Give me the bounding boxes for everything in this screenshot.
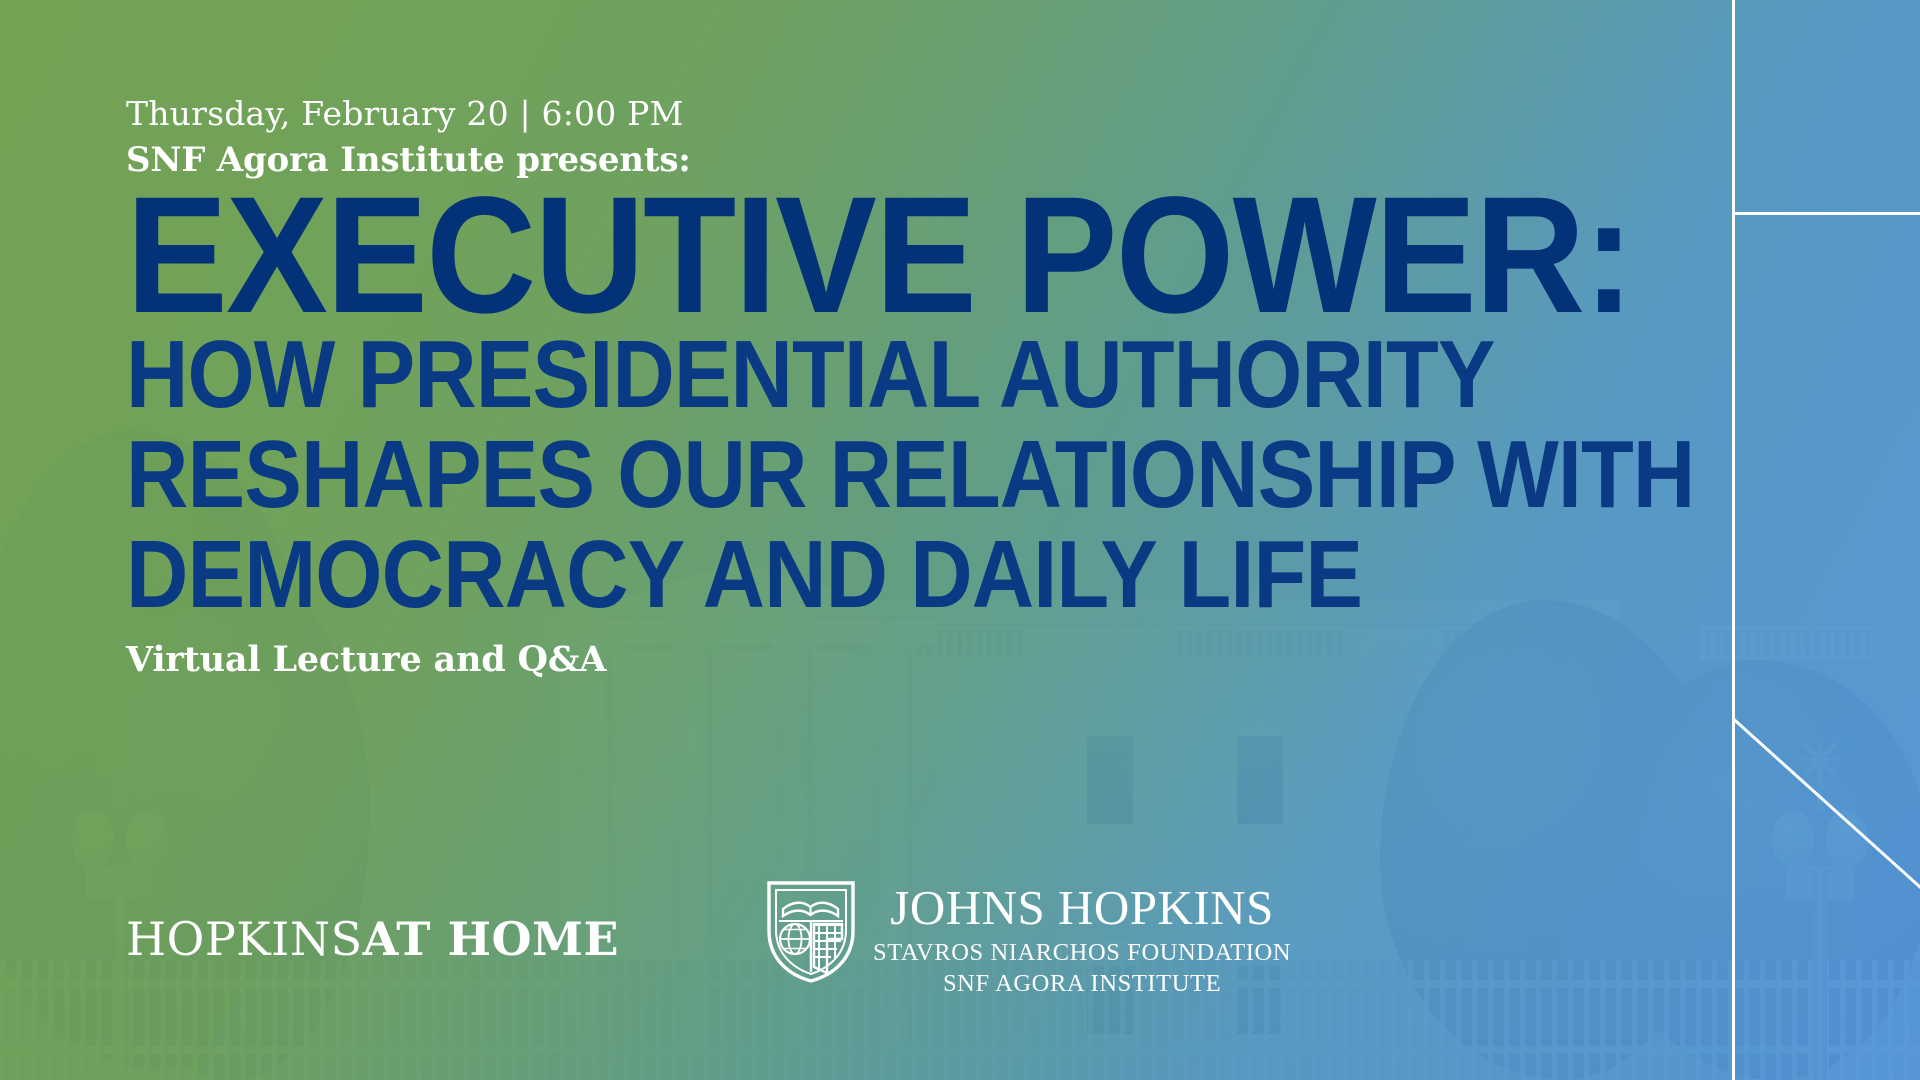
johns-hopkins-snf-agora-logo[interactable]: JOHNS HOPKINS STAVROS NIARCHOS FOUNDATIO… — [765, 879, 1291, 998]
event-title: EXECUTIVE POWER: — [126, 186, 1524, 325]
hopkins-at-home-bold: AT HOME — [363, 912, 619, 966]
jhu-shield-icon — [765, 879, 857, 985]
jhu-unit-line-1: STAVROS NIARCHOS FOUNDATION — [873, 939, 1291, 967]
horizontal-white-rule — [1735, 212, 1920, 215]
vertical-white-rule — [1732, 0, 1735, 1080]
event-subtitle-line-1: HOW PRESIDENTIAL AUTHORITY — [126, 325, 1494, 425]
jhu-wordmark: JOHNS HOPKINS STAVROS NIARCHOS FOUNDATIO… — [873, 879, 1291, 998]
event-subtitle-line-2: RESHAPES OUR RELATIONSHIP WITH — [126, 425, 1494, 525]
hopkins-at-home-thin: HOPKINS — [126, 912, 363, 966]
hopkins-at-home-logo[interactable]: HOPKINSAT HOME — [126, 916, 619, 962]
event-subtitle-line-3: DEMOCRACY AND DAILY LIFE — [126, 525, 1494, 625]
event-format: Virtual Lecture and Q&A — [126, 639, 1646, 680]
jhu-unit-line-2: SNF AGORA INSTITUTE — [943, 970, 1221, 998]
event-datetime: Thursday, February 20 | 6:00 PM — [126, 96, 1646, 132]
poster-text-block: Thursday, February 20 | 6:00 PM SNF Agor… — [126, 96, 1646, 680]
jhu-name: JOHNS HOPKINS — [890, 883, 1274, 932]
logo-row: HOPKINSAT HOME — [126, 879, 1291, 998]
title-block: EXECUTIVE POWER: HOW PRESIDENTIAL AUTHOR… — [126, 186, 1646, 625]
event-promo-poster: Thursday, February 20 | 6:00 PM SNF Agor… — [0, 0, 1920, 1080]
